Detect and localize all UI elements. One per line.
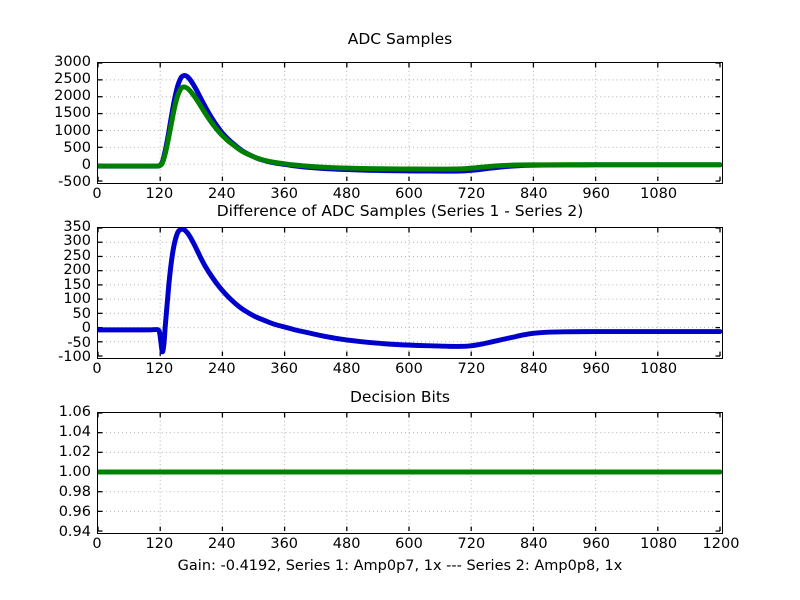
- x-tick-label: 240: [208, 361, 236, 377]
- x-tick-label: 120: [146, 536, 174, 552]
- data-curves-difference-of-adc-samples: [98, 228, 722, 358]
- y-tick-label: 350: [63, 219, 91, 235]
- y-tick-label: 0.96: [59, 504, 91, 520]
- panel-title-decision-bits: Decision Bits: [0, 390, 800, 406]
- y-tick-label: 1.00: [59, 464, 91, 480]
- x-tick-label: 960: [582, 536, 610, 552]
- x-axis-labels-difference-of-adc-samples: 01202403604806007208409601080: [97, 361, 723, 381]
- panel-difference-of-adc-samples: Difference of ADC Samples (Series 1 - Se…: [0, 200, 800, 390]
- y-tick-label: 2500: [54, 71, 91, 87]
- panel-title-adc-samples: ADC Samples: [0, 32, 800, 48]
- x-tick-label: 240: [208, 536, 236, 552]
- y-tick-label: -500: [58, 174, 91, 190]
- x-axis-labels-decision-bits: 012024036048060072084096010801200: [97, 536, 723, 556]
- y-axis-labels-difference-of-adc-samples: -100-50050100150200250300350: [0, 227, 91, 359]
- y-tick-label: 150: [63, 277, 91, 293]
- axes-decision-bits: [97, 412, 723, 534]
- x-tick-label: 360: [270, 361, 298, 377]
- y-tick-label: 0.94: [59, 524, 91, 540]
- x-tick-label: 1200: [703, 536, 740, 552]
- x-tick-label: 360: [270, 536, 298, 552]
- y-tick-label: 500: [63, 140, 91, 156]
- x-tick-label: 960: [582, 361, 610, 377]
- y-tick-label: 300: [63, 233, 91, 249]
- x-tick-label: 120: [146, 361, 174, 377]
- panel-adc-samples: ADC Samples -500050010001500200025003000…: [0, 0, 800, 200]
- y-tick-label: 1000: [54, 123, 91, 139]
- y-axis-labels-decision-bits: 0.940.960.981.001.021.041.06: [0, 412, 91, 534]
- x-tick-label: 840: [520, 361, 548, 377]
- y-tick-label: 1500: [54, 105, 91, 121]
- x-tick-label: 720: [458, 536, 486, 552]
- figure-footer-caption: Gain: -0.4192, Series 1: Amp0p7, 1x --- …: [0, 558, 800, 574]
- matplotlib-figure: ADC Samples -500050010001500200025003000…: [0, 0, 800, 600]
- x-tick-label: 480: [333, 361, 361, 377]
- y-axis-labels-adc-samples: -500050010001500200025003000: [0, 62, 91, 184]
- y-tick-label: 1.06: [59, 404, 91, 420]
- x-tick-label: 1080: [640, 536, 677, 552]
- panel-title-difference-of-adc-samples: Difference of ADC Samples (Series 1 - Se…: [0, 204, 800, 220]
- series-line-1: [98, 229, 720, 352]
- y-tick-label: 50: [73, 306, 91, 322]
- x-tick-label: 600: [395, 361, 423, 377]
- y-tick-label: -100: [58, 349, 91, 365]
- axes-adc-samples: [97, 62, 723, 184]
- x-tick-label: 480: [333, 536, 361, 552]
- x-tick-label: 1080: [640, 361, 677, 377]
- y-tick-label: 200: [63, 262, 91, 278]
- y-tick-label: 250: [63, 248, 91, 264]
- y-tick-label: 0: [82, 320, 91, 336]
- x-tick-label: 0: [92, 361, 101, 377]
- y-tick-label: 1.04: [59, 424, 91, 440]
- x-tick-label: 720: [458, 361, 486, 377]
- series-line-2: [98, 87, 720, 169]
- x-tick-label: 840: [520, 536, 548, 552]
- y-tick-label: 1.02: [59, 444, 91, 460]
- y-tick-label: 3000: [54, 54, 91, 70]
- y-tick-label: 2000: [54, 88, 91, 104]
- y-tick-label: 100: [63, 291, 91, 307]
- axes-difference-of-adc-samples: [97, 227, 723, 359]
- y-tick-label: 0: [82, 157, 91, 173]
- y-tick-label: 0.98: [59, 484, 91, 500]
- x-tick-label: 0: [92, 536, 101, 552]
- data-curves-decision-bits: [98, 413, 722, 533]
- data-curves-adc-samples: [98, 63, 722, 183]
- panel-decision-bits: Decision Bits 0.940.960.981.001.021.041.…: [0, 390, 800, 600]
- y-tick-label: -50: [67, 335, 91, 351]
- x-tick-label: 600: [395, 536, 423, 552]
